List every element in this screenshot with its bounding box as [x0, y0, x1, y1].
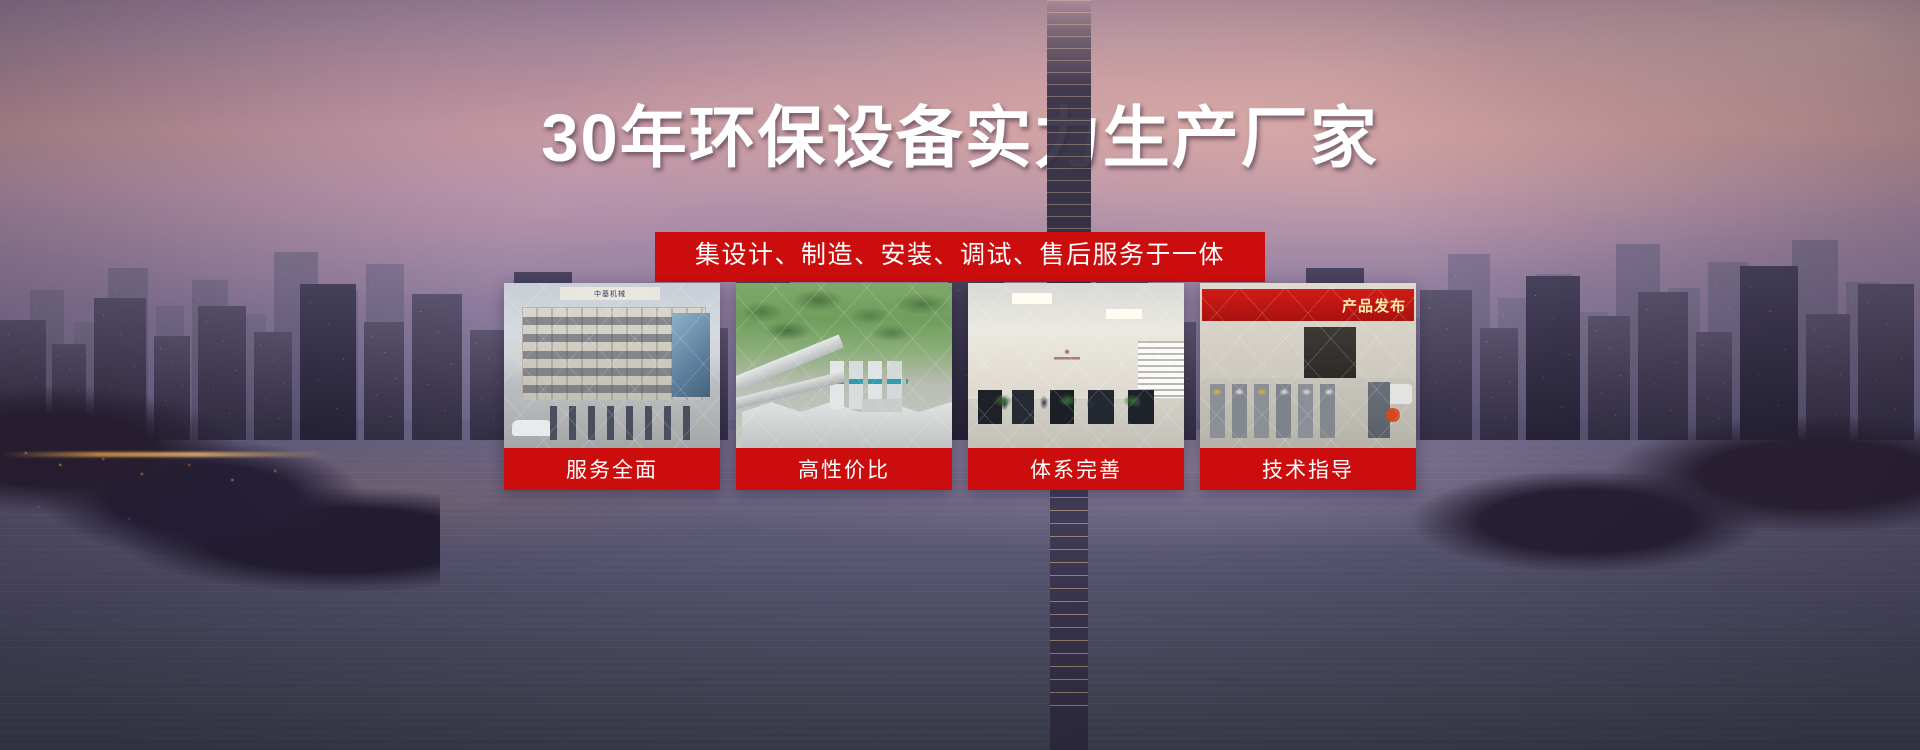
card-label: 体系完善: [968, 448, 1184, 490]
ceiling-light: [1106, 309, 1142, 319]
factory-wall-banner: 产品发布: [1202, 289, 1414, 321]
feature-card[interactable]: 中基机械 服务全面: [504, 283, 720, 490]
page-title: 30年环保设备实力生产厂家: [0, 103, 1920, 174]
card-photo-value: [736, 283, 952, 448]
lit-bridge: [0, 452, 330, 457]
office-interior-photo: [968, 283, 1184, 448]
hero-banner: 30年环保设备实力生产厂家 集设计、制造、安装、调试、售后服务于一体 中基机械 …: [0, 0, 1920, 750]
cable-reel: [1386, 408, 1400, 422]
card-photo-system: [968, 283, 1184, 448]
feature-card-list: 中基机械 服务全面: [504, 283, 1416, 490]
card-label: 高性价比: [736, 448, 952, 490]
safety-helmets: [1210, 386, 1350, 398]
card-photo-service: 中基机械: [504, 283, 720, 448]
building-sign-text: 中基机械: [560, 287, 660, 300]
office-plants: [984, 390, 1174, 408]
office-building-photo: 中基机械: [504, 283, 720, 448]
shoreline-lights: [0, 420, 430, 570]
industrial-plant-photo: [736, 283, 952, 448]
card-label: 服务全面: [504, 448, 720, 490]
factory-door: [1304, 327, 1356, 383]
subtitle-text: 集设计、制造、安装、调试、售后服务于一体: [695, 239, 1225, 272]
feature-card[interactable]: 体系完善: [968, 283, 1184, 490]
card-label: 技术指导: [1200, 448, 1416, 490]
card-photo-training: 产品发布: [1200, 283, 1416, 448]
wall-logo: [1054, 347, 1080, 369]
staff-lineup: [544, 406, 694, 440]
subtitle-banner: 集设计、制造、安装、调试、售后服务于一体: [655, 232, 1265, 282]
feature-card[interactable]: 产品发布 技术指导: [1200, 283, 1416, 490]
right-shoreline-trees: [1400, 360, 1920, 620]
factory-yard-photo: 产品发布: [1200, 283, 1416, 448]
feature-card[interactable]: 高性价比: [736, 283, 952, 490]
plant-truck: [862, 399, 902, 412]
ceiling-light: [1012, 293, 1052, 304]
